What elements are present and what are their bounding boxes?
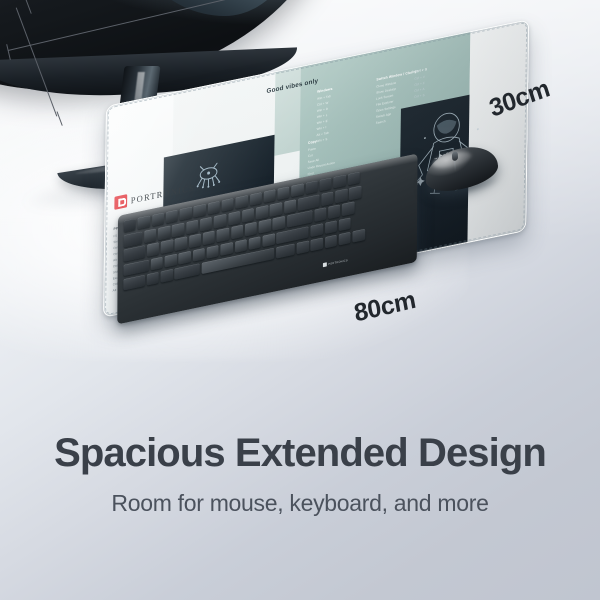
key bbox=[231, 225, 243, 239]
key bbox=[311, 223, 323, 237]
key bbox=[321, 192, 333, 206]
key bbox=[165, 253, 177, 267]
key bbox=[292, 183, 304, 197]
key bbox=[335, 189, 347, 203]
key bbox=[152, 213, 164, 227]
key bbox=[235, 239, 247, 253]
key bbox=[298, 195, 320, 211]
key bbox=[166, 210, 178, 224]
key bbox=[325, 234, 337, 248]
product-marketing-image: Good vibes only ...before you are ready.… bbox=[0, 0, 600, 600]
key bbox=[186, 220, 198, 234]
key bbox=[172, 223, 184, 237]
key bbox=[353, 229, 365, 243]
key bbox=[305, 180, 317, 194]
key bbox=[161, 240, 173, 254]
key bbox=[138, 215, 150, 229]
subheadline: Room for mouse, keyboard, and more bbox=[0, 490, 600, 517]
key bbox=[249, 236, 261, 250]
key bbox=[245, 222, 257, 236]
headline: Spacious Extended Design bbox=[0, 432, 600, 474]
key bbox=[311, 237, 323, 251]
key bbox=[276, 243, 295, 259]
key bbox=[175, 263, 201, 280]
key bbox=[214, 214, 226, 228]
key bbox=[203, 231, 215, 245]
key bbox=[347, 172, 359, 186]
key bbox=[270, 202, 282, 216]
key bbox=[180, 207, 192, 221]
key bbox=[200, 217, 212, 231]
marketing-copy: Spacious Extended Design Room for mouse,… bbox=[0, 432, 600, 517]
key bbox=[236, 195, 248, 209]
key bbox=[147, 272, 159, 286]
key bbox=[349, 186, 361, 200]
key bbox=[161, 269, 173, 283]
key bbox=[144, 229, 156, 243]
key bbox=[325, 220, 337, 234]
key bbox=[339, 232, 351, 246]
key bbox=[175, 237, 187, 251]
key bbox=[250, 192, 262, 206]
key bbox=[222, 198, 234, 212]
key bbox=[124, 218, 136, 232]
key bbox=[228, 211, 240, 225]
key bbox=[297, 240, 309, 254]
key bbox=[179, 250, 191, 264]
key bbox=[273, 216, 285, 230]
key bbox=[256, 205, 268, 219]
portronics-logo-icon-small bbox=[323, 262, 327, 267]
key bbox=[194, 204, 206, 218]
key bbox=[263, 233, 275, 247]
key bbox=[339, 217, 351, 231]
key bbox=[242, 208, 254, 222]
key bbox=[124, 232, 143, 248]
key bbox=[221, 242, 233, 256]
key bbox=[147, 243, 159, 257]
key bbox=[123, 275, 145, 291]
key bbox=[259, 219, 271, 233]
key bbox=[217, 228, 229, 242]
key bbox=[158, 226, 170, 240]
key bbox=[151, 256, 163, 270]
key bbox=[319, 177, 331, 191]
key bbox=[342, 202, 354, 216]
key bbox=[264, 189, 276, 203]
key bbox=[333, 175, 345, 189]
key bbox=[207, 245, 219, 259]
key bbox=[189, 234, 201, 248]
key bbox=[328, 205, 340, 219]
key bbox=[284, 199, 296, 213]
key bbox=[193, 247, 205, 261]
key bbox=[278, 186, 290, 200]
keyboard-brand-text: PORTRONICS bbox=[328, 258, 348, 265]
keyboard-brand-badge: PORTRONICS bbox=[323, 258, 348, 267]
key bbox=[124, 245, 146, 261]
key bbox=[208, 201, 220, 215]
key bbox=[314, 208, 326, 222]
